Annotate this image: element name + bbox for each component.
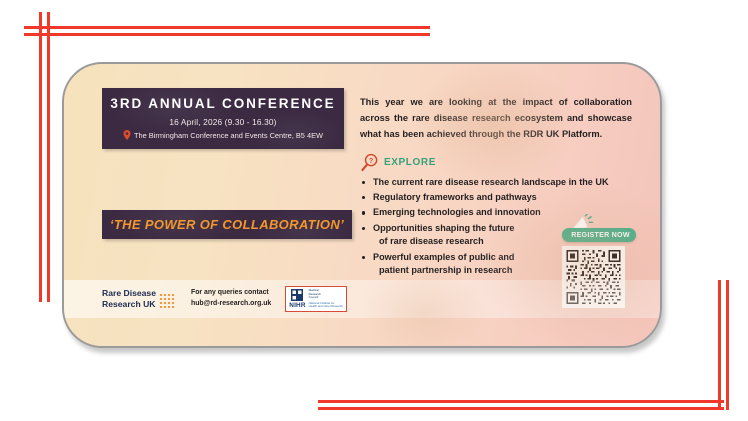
conference-title: 3RD ANNUAL CONFERENCE bbox=[108, 96, 338, 112]
rdr-logo-line-1: Rare Disease bbox=[102, 288, 156, 299]
rdr-logo-line-2: Research UK bbox=[102, 299, 156, 310]
list-item: Regulatory frameworks and pathways bbox=[360, 191, 632, 204]
crop-mark-bottom-horizontal-2 bbox=[318, 407, 724, 410]
rdr-uk-logo: Rare Disease Research UK bbox=[102, 288, 177, 309]
crop-mark-left-vertical-1 bbox=[39, 12, 42, 302]
mrc-logo-icon bbox=[291, 289, 303, 301]
list-item: The current rare disease research landsc… bbox=[360, 176, 632, 189]
contact-email: hub@rd-research.org.uk bbox=[191, 299, 271, 310]
svg-text:?: ? bbox=[369, 157, 373, 165]
nihr-left-group: NIHR bbox=[289, 289, 305, 309]
register-now-label: REGISTER NOW bbox=[571, 231, 630, 239]
nihr-right-group: Medical Research Council National Instit… bbox=[309, 289, 343, 309]
magnifying-glass-question-icon: ? bbox=[360, 153, 379, 172]
crop-mark-top-horizontal-2 bbox=[24, 33, 430, 36]
nihr-caption: National Institute for Health and Care R… bbox=[309, 302, 343, 309]
conference-venue: The Birmingham Conference and Events Cen… bbox=[134, 131, 323, 140]
crop-mark-top-horizontal-1 bbox=[24, 26, 430, 29]
contact-block: For any queries contact hub@rd-research.… bbox=[191, 288, 271, 309]
list-item-text: Opportunities shaping the future bbox=[373, 223, 514, 233]
nihr-caption-line-2: Health and Care Research bbox=[309, 305, 343, 309]
crop-mark-bottom-horizontal-1 bbox=[318, 400, 724, 403]
conference-header-bar: 3RD ANNUAL CONFERENCE 16 April, 2026 (9.… bbox=[102, 88, 344, 149]
crop-mark-left-vertical-2 bbox=[47, 12, 50, 302]
crop-mark-right-vertical-2 bbox=[726, 280, 729, 410]
footer-content: Rare Disease Research UK bbox=[102, 280, 347, 318]
crop-mark-right-vertical-1 bbox=[718, 280, 721, 410]
register-now-button[interactable]: REGISTER NOW bbox=[562, 228, 636, 242]
list-item-text: The current rare disease research landsc… bbox=[373, 177, 609, 187]
orange-dot-grid-icon bbox=[160, 294, 177, 310]
location-pin-icon bbox=[123, 130, 131, 140]
contact-label: For any queries contact bbox=[191, 288, 271, 299]
mrc-caption-line-3: Council bbox=[309, 296, 343, 300]
footer-strip: Rare Disease Research UK bbox=[64, 280, 660, 318]
mrc-caption: Medical Research Council bbox=[309, 289, 343, 300]
conference-date: 16 April, 2026 (9.30 - 16.30) bbox=[108, 117, 338, 127]
list-item-text: Powerful examples of public and bbox=[373, 252, 515, 262]
conference-venue-row: The Birmingham Conference and Events Cen… bbox=[108, 130, 338, 140]
list-item-text: Regulatory frameworks and pathways bbox=[373, 192, 537, 202]
screenshot-root: 3RD ANNUAL CONFERENCE 16 April, 2026 (9.… bbox=[0, 0, 748, 421]
explore-label: EXPLORE bbox=[384, 157, 436, 168]
list-item-text: Emerging technologies and innovation bbox=[373, 207, 541, 217]
nihr-mrc-logo: NIHR Medical Research Council National I… bbox=[285, 286, 347, 312]
rdr-uk-logo-text: Rare Disease Research UK bbox=[102, 288, 156, 309]
tagline-bar: ‘THE POWER OF COLLABORATION’ bbox=[102, 210, 352, 239]
intro-paragraph: This year we are looking at the impact o… bbox=[360, 95, 632, 143]
explore-heading-row: ? EXPLORE bbox=[360, 153, 632, 172]
nihr-wordmark: NIHR bbox=[289, 302, 305, 309]
conference-poster-card: 3RD ANNUAL CONFERENCE 16 April, 2026 (9.… bbox=[62, 62, 662, 348]
tagline-text: ‘THE POWER OF COLLABORATION’ bbox=[106, 217, 348, 232]
